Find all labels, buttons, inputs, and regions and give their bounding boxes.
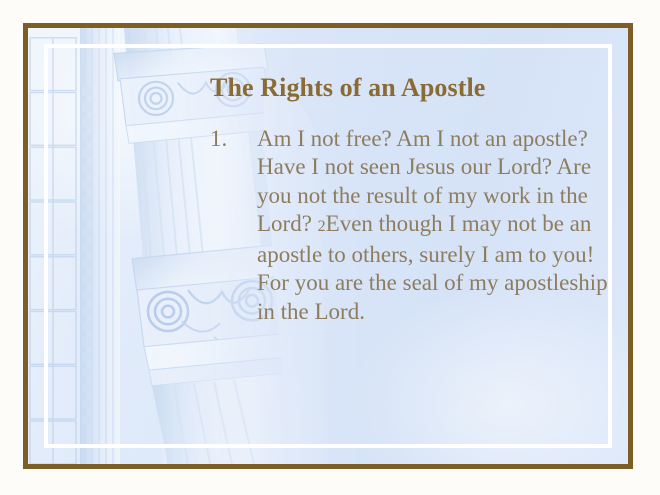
slide-body-list: 1. Am I not free? Am I not an apostle? H… <box>210 125 610 326</box>
presentation-slide: The Rights of an Apostle 1. Am I not fre… <box>0 0 660 495</box>
slide-brown-border: The Rights of an Apostle 1. Am I not fre… <box>23 23 633 469</box>
list-item-marker: 1. <box>210 125 227 153</box>
slide-content: The Rights of an Apostle 1. Am I not fre… <box>210 73 610 326</box>
slide-title: The Rights of an Apostle <box>210 73 610 103</box>
verse-number: 2 <box>318 218 326 235</box>
list-item: 1. Am I not free? Am I not an apostle? H… <box>210 125 610 326</box>
